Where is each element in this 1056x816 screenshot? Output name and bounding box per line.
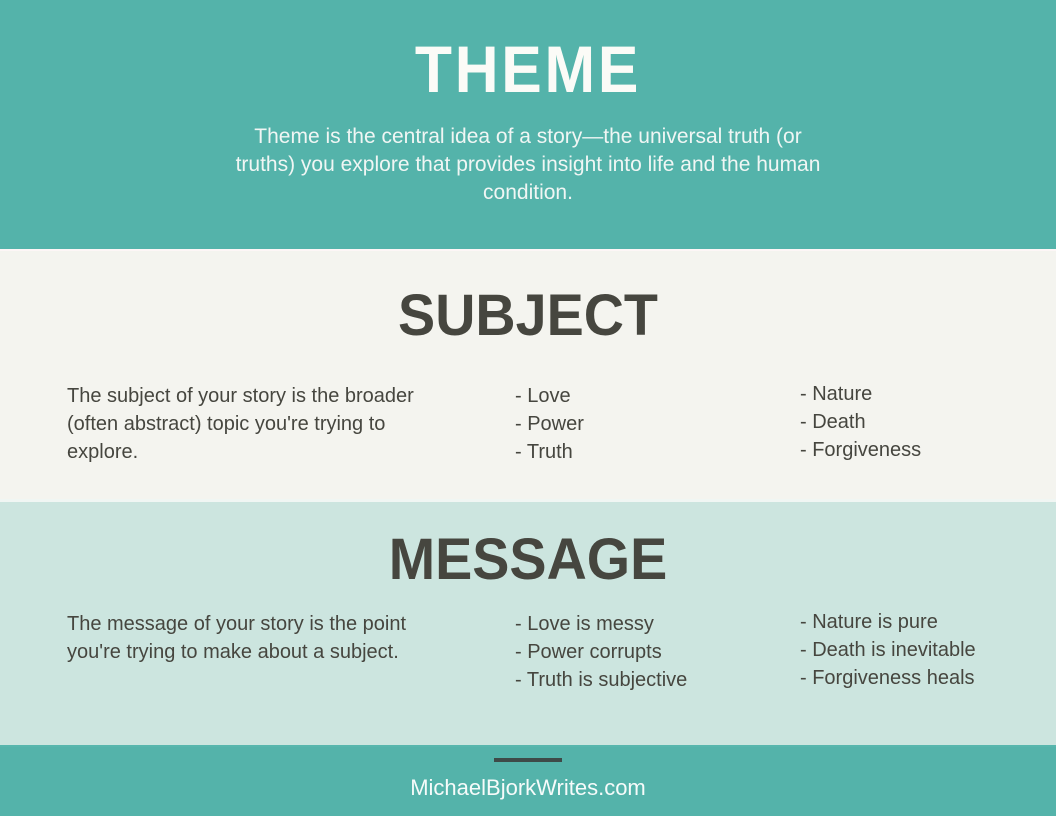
subject-examples-column-2: - Nature - Death - Forgiveness (800, 380, 1050, 464)
subject-title: SUBJECT (21, 287, 1035, 345)
list-item: - Truth is subjective (515, 666, 785, 694)
list-item: - Love is messy (515, 610, 785, 638)
list-item: - Death (800, 408, 1050, 436)
footer-divider (494, 758, 562, 762)
list-item: - Power (515, 410, 785, 438)
subject-description-column: The subject of your story is the broader… (67, 382, 427, 466)
message-title: MESSAGE (21, 531, 1035, 589)
message-examples-column-2: - Nature is pure - Death is inevitable -… (800, 608, 1050, 692)
subject-description: The subject of your story is the broader… (67, 382, 427, 466)
list-item: - Forgiveness (800, 436, 1050, 464)
list-item: - Truth (515, 438, 785, 466)
theme-subject-message-infographic: THEME Theme is the central idea of a sto… (0, 0, 1056, 816)
list-item: - Death is inevitable (800, 636, 1050, 664)
message-description: The message of your story is the point y… (67, 610, 427, 666)
list-item: - Forgiveness heals (800, 664, 1050, 692)
message-section: MESSAGE The message of your story is the… (0, 499, 1056, 745)
list-item: - Love (515, 382, 785, 410)
theme-section: THEME Theme is the central idea of a sto… (0, 0, 1056, 249)
footer-section: MichaelBjorkWrites.com (0, 745, 1056, 816)
subject-section: SUBJECT The subject of your story is the… (0, 249, 1056, 499)
list-item: - Nature is pure (800, 608, 1050, 636)
message-examples-column-1: - Love is messy - Power corrupts - Truth… (515, 610, 785, 694)
theme-title: THEME (42, 36, 1014, 102)
message-description-column: The message of your story is the point y… (67, 610, 427, 666)
list-item: - Power corrupts (515, 638, 785, 666)
footer-website-url[interactable]: MichaelBjorkWrites.com (0, 777, 1056, 799)
list-item: - Nature (800, 380, 1050, 408)
subject-examples-column-1: - Love - Power - Truth (515, 382, 785, 466)
theme-description: Theme is the central idea of a story—the… (233, 123, 823, 207)
